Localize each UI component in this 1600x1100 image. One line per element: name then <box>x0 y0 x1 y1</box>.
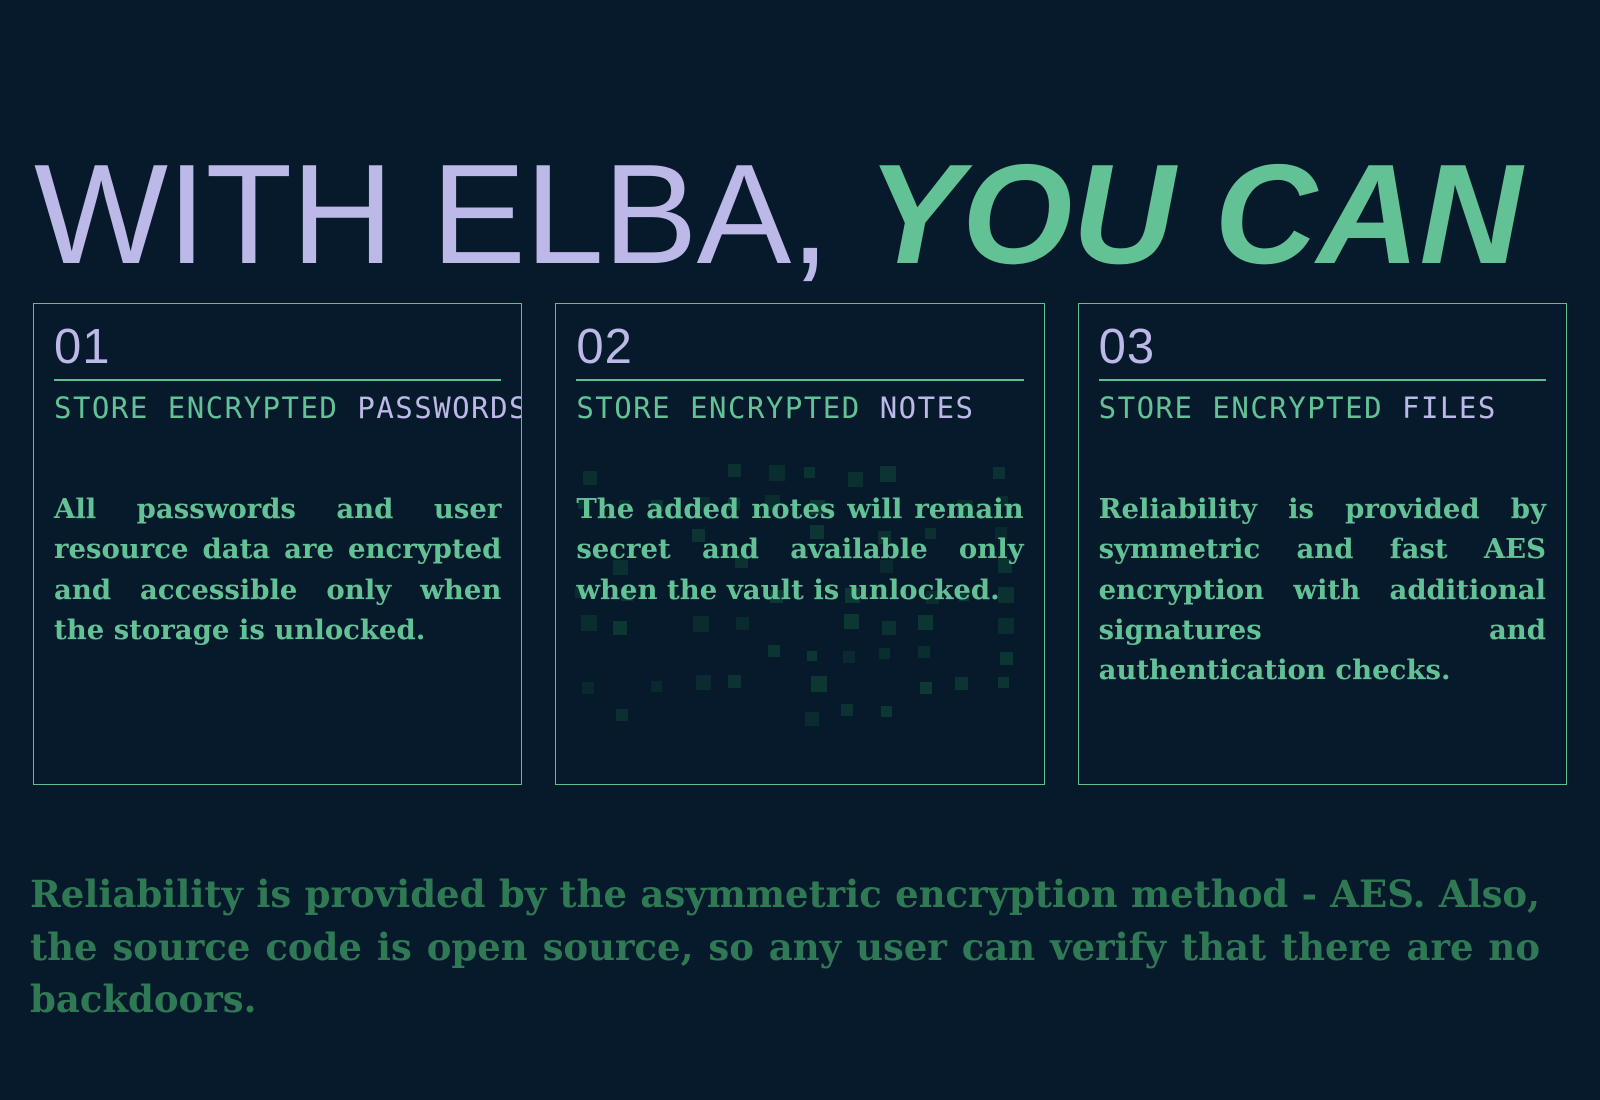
feature-card-02: 02 STORE ENCRYPTED NOTES The added notes… <box>555 303 1044 785</box>
card-body-text: Reliability is provided by symmetric and… <box>1099 489 1546 690</box>
page-headline: WITH ELBA, YOU CAN <box>34 143 1522 288</box>
feature-card-03: 03 STORE ENCRYPTED FILES Reliability is … <box>1078 303 1567 785</box>
card-subtitle-primary: STORE ENCRYPTED <box>576 391 879 425</box>
card-subtitle-accent: NOTES <box>880 391 975 425</box>
feature-card-list: 01 STORE ENCRYPTED PASSWORDS All passwor… <box>33 303 1567 785</box>
card-divider <box>576 379 1023 381</box>
card-subtitle: STORE ENCRYPTED NOTES <box>576 393 1023 425</box>
card-divider <box>54 379 501 381</box>
footer-note-text: Reliability is provided by the asymmetri… <box>30 872 1540 1021</box>
card-body-text: The added notes will remain secret and a… <box>576 489 1023 609</box>
feature-card-01: 01 STORE ENCRYPTED PASSWORDS All passwor… <box>33 303 522 785</box>
card-number: 03 <box>1099 322 1546 373</box>
card-divider <box>1099 379 1546 381</box>
card-subtitle-accent: FILES <box>1402 391 1497 425</box>
card-number: 01 <box>54 322 501 373</box>
footer-note: Reliability is provided by the asymmetri… <box>30 868 1540 1026</box>
card-subtitle: STORE ENCRYPTED FILES <box>1099 393 1546 425</box>
card-subtitle-primary: STORE ENCRYPTED <box>54 391 357 425</box>
card-subtitle-primary: STORE ENCRYPTED <box>1099 391 1402 425</box>
card-body-text: All passwords and user resource data are… <box>54 489 501 650</box>
card-subtitle: STORE ENCRYPTED PASSWORDS <box>54 393 501 425</box>
headline-accent-text: YOU CAN <box>867 135 1522 294</box>
card-number: 02 <box>576 322 1023 373</box>
card-subtitle-accent: PASSWORDS <box>357 391 522 425</box>
headline-plain-text: WITH ELBA, <box>34 135 829 294</box>
